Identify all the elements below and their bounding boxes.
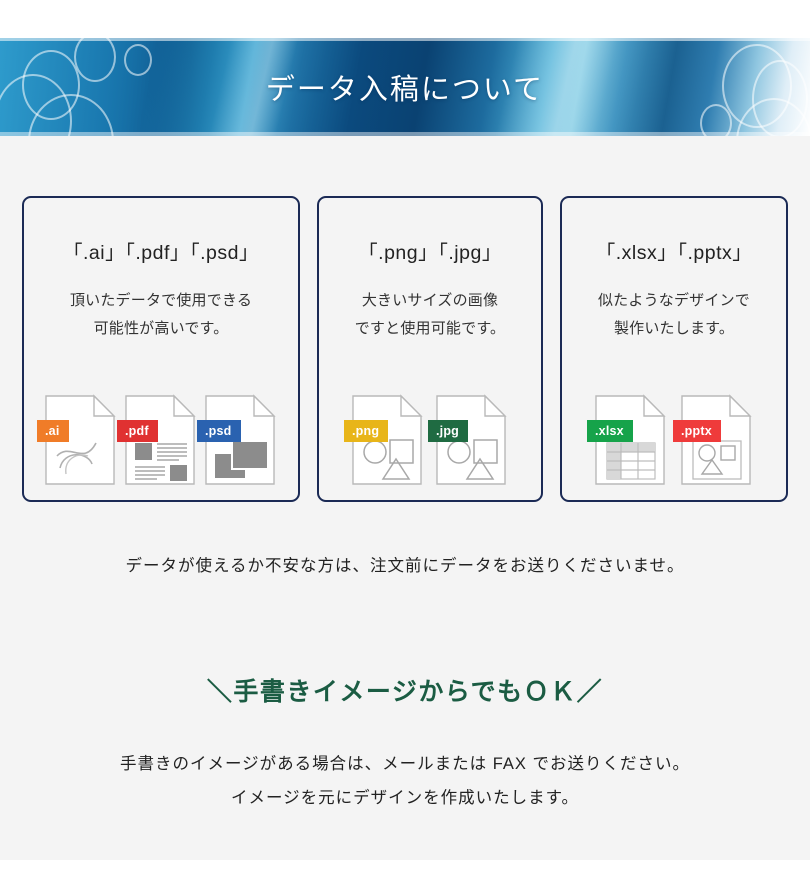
card-description: 大きいサイズの画像 ですと使用可能です。	[319, 287, 541, 343]
handwritten-ok-heading: ＼手書きイメージからでもＯＫ／	[0, 672, 810, 708]
format-card-list: 「.ai」「.pdf」「.psd」 頂いたデータで使用できる 可能性が高いです。…	[22, 196, 788, 502]
card-description: 似たようなデザインで 製作いたします。	[562, 287, 786, 343]
file-icon-png: .png	[351, 394, 425, 486]
file-icon-psd: .psd	[204, 394, 278, 486]
file-tag-label: .png	[344, 420, 388, 442]
file-icon-xlsx: .xlsx	[594, 394, 668, 486]
card-description-line: 可能性が高いです。	[24, 315, 298, 343]
file-icon-pdf: .pdf	[124, 394, 198, 486]
file-tag-label: .pptx	[673, 420, 721, 442]
page-root: データ入稿について 「.ai」「.pdf」「.psd」 頂いたデータで使用できる…	[0, 0, 810, 878]
card-icon-row: .ai	[24, 394, 298, 486]
file-icon-ai: .ai	[44, 394, 118, 486]
card-description-line: 製作いたします。	[562, 315, 786, 343]
file-tag-label: .ai	[37, 420, 69, 442]
handwritten-instructions: 手書きのイメージがある場合は、メールまたは FAX でお送りください。 イメージ…	[0, 748, 810, 816]
file-tag-label: .jpg	[428, 420, 468, 442]
format-card-xlsx-pptx: 「.xlsx」「.pptx」 似たようなデザインで 製作いたします。	[560, 196, 788, 502]
bottom-white-strip	[0, 860, 810, 878]
header-banner: データ入稿について	[0, 38, 810, 136]
file-icon-pptx: .pptx	[680, 394, 754, 486]
data-check-note: データが使えるか不安な方は、注文前にデータをお送りくださいませ。	[0, 552, 810, 576]
card-description-line: 大きいサイズの画像	[319, 287, 541, 315]
card-description-line: 似たようなデザインで	[562, 287, 786, 315]
card-title: 「.png」「.jpg」	[319, 236, 541, 265]
file-tag-label: .pdf	[117, 420, 158, 442]
file-tag-label: .psd	[197, 420, 241, 442]
file-icon-jpg: .jpg	[435, 394, 509, 486]
card-description-line: 頂いたデータで使用できる	[24, 287, 298, 315]
card-title: 「.xlsx」「.pptx」	[562, 236, 786, 265]
format-card-png-jpg: 「.png」「.jpg」 大きいサイズの画像 ですと使用可能です。 .png	[317, 196, 543, 502]
page-title: データ入稿について	[0, 38, 810, 136]
handwritten-instructions-line: 手書きのイメージがある場合は、メールまたは FAX でお送りください。	[0, 748, 810, 782]
card-description-line: ですと使用可能です。	[319, 315, 541, 343]
card-icon-row: .xlsx .pptx	[562, 394, 786, 486]
top-white-strip	[0, 0, 810, 38]
handwritten-instructions-line: イメージを元にデザインを作成いたします。	[0, 782, 810, 816]
card-title: 「.ai」「.pdf」「.psd」	[24, 236, 298, 265]
file-tag-label: .xlsx	[587, 420, 633, 442]
format-card-ai-pdf-psd: 「.ai」「.pdf」「.psd」 頂いたデータで使用できる 可能性が高いです。…	[22, 196, 300, 502]
card-description: 頂いたデータで使用できる 可能性が高いです。	[24, 287, 298, 343]
card-icon-row: .png .jpg	[319, 394, 541, 486]
